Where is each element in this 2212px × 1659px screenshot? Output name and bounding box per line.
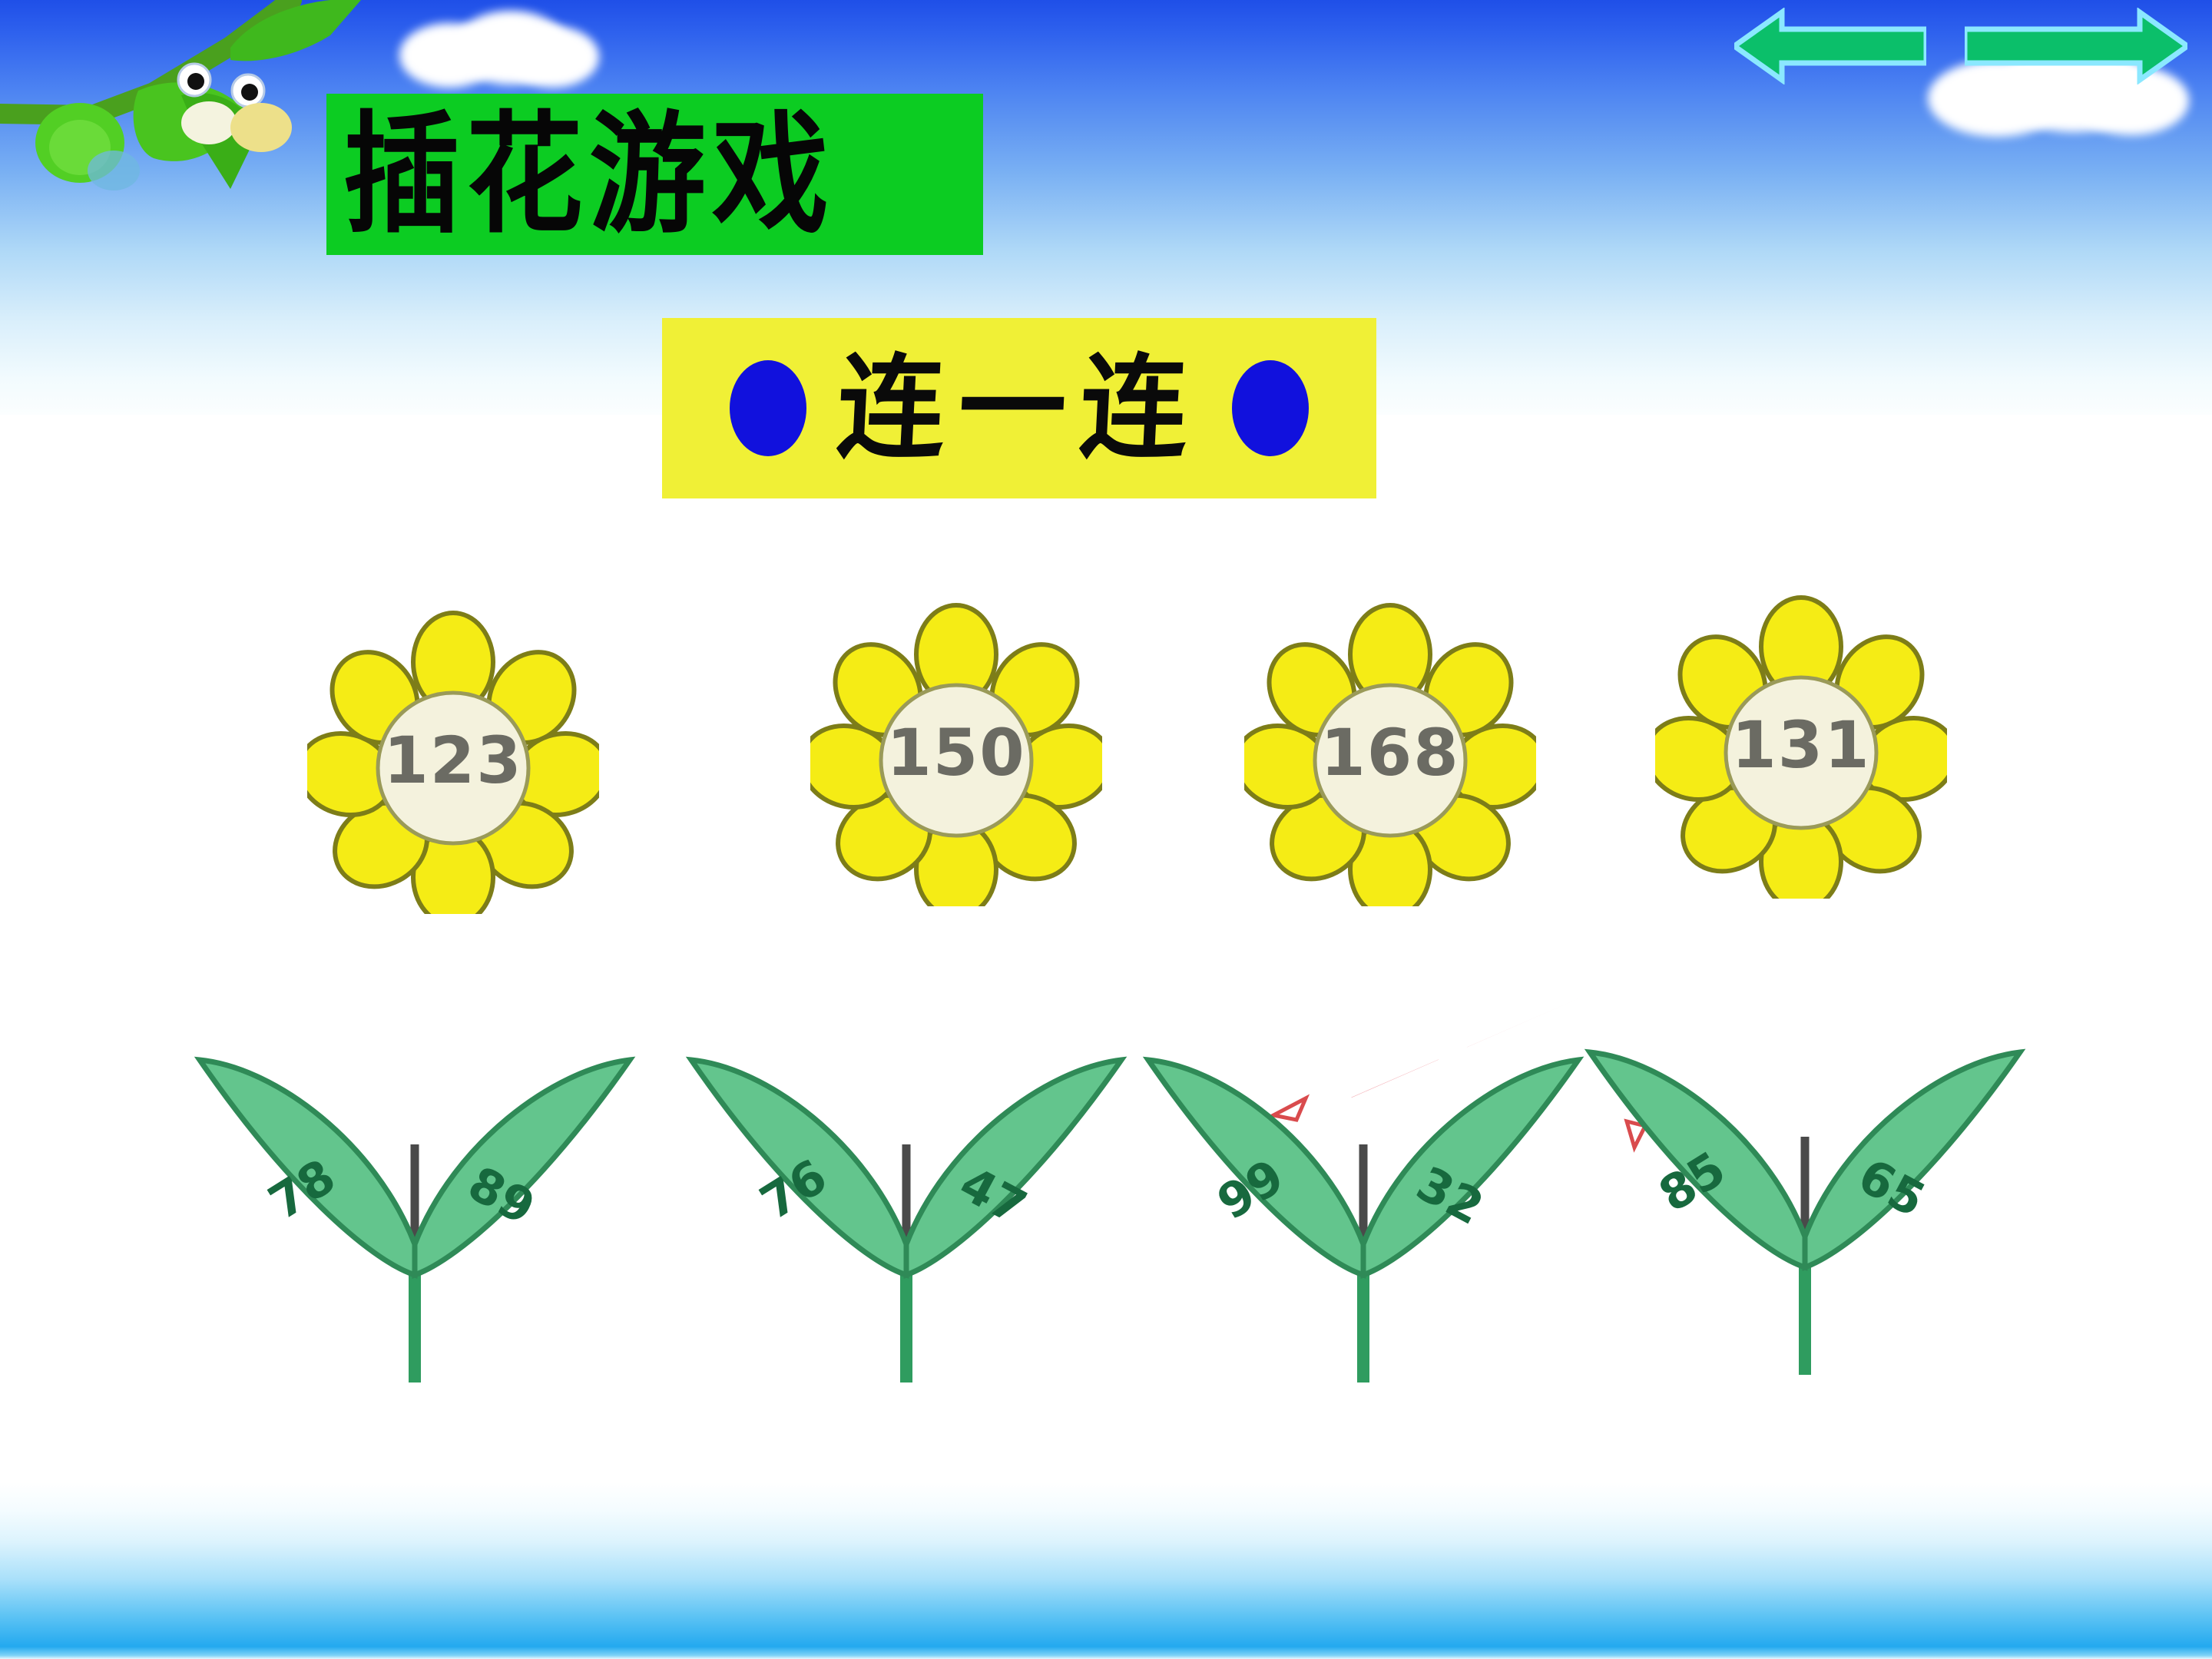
cloud-icon — [507, 26, 599, 88]
instruction-text: 连一连 — [834, 352, 1204, 465]
slide-canvas: 插花游戏 连一连 — [0, 0, 2212, 1659]
flower-number: 123 — [307, 607, 599, 914]
two-leaf-plant-icon — [1133, 1052, 1594, 1382]
previous-slide-arrow-icon[interactable] — [1734, 8, 1926, 84]
two-leaf-plant-icon — [184, 1052, 645, 1382]
next-slide-arrow-icon[interactable] — [1965, 8, 2187, 84]
flower-number: 168 — [1244, 599, 1536, 906]
flower-card[interactable]: 123 — [307, 607, 599, 914]
flower-card[interactable]: 131 — [1655, 591, 1947, 899]
two-leaf-plant-icon — [676, 1052, 1137, 1382]
page-title: 插花游戏 — [326, 94, 983, 255]
flower-number: 150 — [810, 599, 1102, 906]
plant-card[interactable]: 85 65 — [1575, 1045, 2035, 1375]
instruction-banner: 连一连 — [662, 318, 1376, 498]
flower-card[interactable]: 150 — [810, 599, 1102, 906]
floor-gradient — [0, 1482, 2212, 1659]
bullet-dot-icon — [730, 360, 806, 456]
bullet-dot-icon — [1232, 360, 1309, 456]
two-leaf-plant-icon — [1575, 1045, 2035, 1375]
page-title-text: 插花游戏 — [343, 109, 835, 240]
slide-navigation[interactable] — [1734, 3, 2195, 95]
plant-card[interactable]: 76 47 — [676, 1052, 1137, 1382]
plant-card[interactable]: 78 89 — [184, 1052, 645, 1382]
flower-number: 131 — [1655, 591, 1947, 899]
flower-card[interactable]: 168 — [1244, 599, 1536, 906]
plant-card[interactable]: 99 32 — [1133, 1052, 1594, 1382]
